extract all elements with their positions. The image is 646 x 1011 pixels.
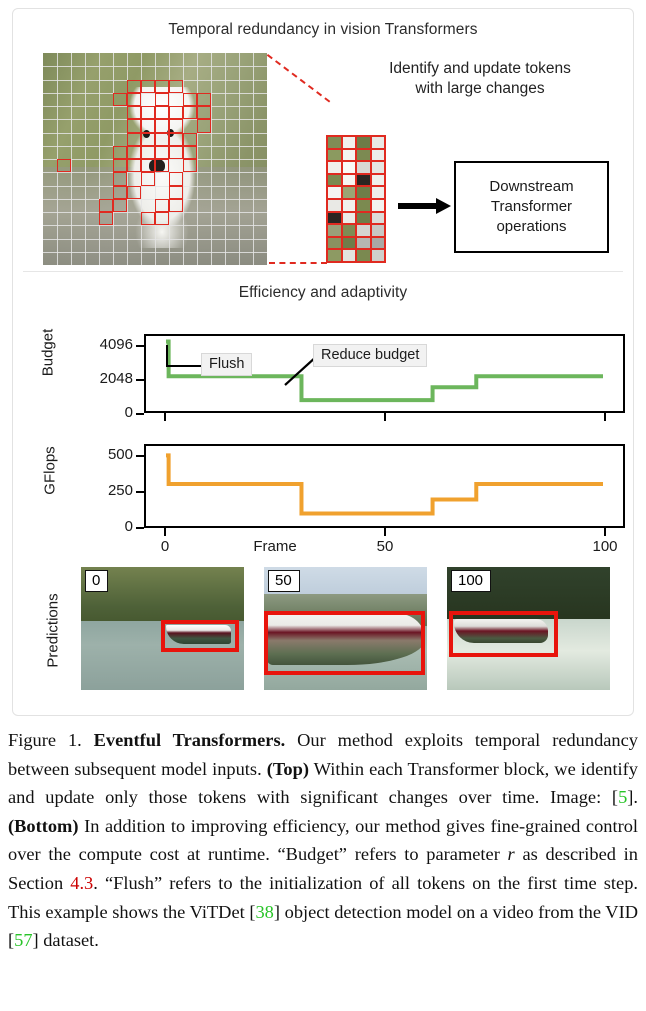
- flush-leader-horizontal: [166, 365, 206, 367]
- caption-segment-16: ] dataset.: [33, 930, 99, 950]
- xtick-label-50: 50: [365, 538, 405, 555]
- gflops-ytick-250: 250: [71, 482, 133, 499]
- token-patch: [356, 224, 371, 237]
- token-patch: [327, 224, 342, 237]
- token-patch: [342, 186, 357, 199]
- gflops-axes: [144, 444, 625, 528]
- token-patch: [371, 199, 386, 212]
- token-patch: [371, 136, 386, 149]
- predictions-row: Predictions 0 50: [13, 567, 633, 697]
- token-patch: [342, 136, 357, 149]
- token-patch: [327, 161, 342, 174]
- token-patch: [356, 149, 371, 162]
- caption-segment-15: 57: [14, 930, 32, 950]
- token-patch: [327, 136, 342, 149]
- token-patch: [356, 161, 371, 174]
- token-patch: [371, 174, 386, 187]
- annotation-reduce-budget: Reduce budget: [313, 344, 427, 367]
- token-patch: [356, 136, 371, 149]
- token-patch: [356, 249, 371, 262]
- downstream-operations-box: Downstream Transformer operations: [454, 161, 609, 253]
- selected-token-strip: [326, 135, 386, 263]
- connector-line-bottom: [269, 262, 327, 264]
- xtick-label-0: 0: [145, 538, 185, 555]
- gflops-tick-500: [136, 455, 144, 457]
- token-patch: [327, 237, 342, 250]
- token-patch: [371, 212, 386, 225]
- caption-segment-0: Figure 1.: [8, 730, 94, 750]
- xtick-label-100: 100: [582, 538, 628, 555]
- strip-caption: Identify and update tokens with large ch…: [333, 59, 627, 99]
- frame0-number: 0: [85, 570, 108, 592]
- token-patch: [342, 199, 357, 212]
- caption-segment-1: Eventful Transformers.: [94, 730, 286, 750]
- frame0-bounding-box: [161, 620, 239, 652]
- flush-leader-vertical: [166, 345, 168, 367]
- figure-page: Temporal redundancy in vision Transforme…: [0, 0, 646, 1011]
- prediction-frame-0: 0: [81, 567, 244, 690]
- token-patch: [327, 174, 342, 187]
- figure-caption: Figure 1. Eventful Transformers. Our met…: [8, 726, 638, 955]
- flow-arrow-icon: [398, 199, 454, 213]
- token-grid-overlay: [43, 53, 267, 265]
- token-patch: [342, 149, 357, 162]
- gflops-xtick-100: [604, 528, 606, 536]
- top-panel: Temporal redundancy in vision Transforme…: [13, 9, 633, 271]
- token-patch: [356, 212, 371, 225]
- token-patch: [356, 174, 371, 187]
- frame50-number: 50: [268, 570, 300, 592]
- bottom-panel: Efficiency and adaptivity Budget 4096 20…: [13, 272, 633, 717]
- caption-segment-3: (Top): [267, 759, 309, 779]
- prediction-frame-100: 100: [447, 567, 610, 690]
- token-patch: [371, 186, 386, 199]
- token-patch: [356, 199, 371, 212]
- gflops-series-line: [146, 446, 623, 526]
- token-patch: [371, 249, 386, 262]
- gflops-ytick-500: 500: [71, 446, 133, 463]
- caption-segment-11: 4.3: [70, 873, 93, 893]
- gflops-chart: GFlops 500 250 0 0 Frame 50 100: [13, 382, 633, 542]
- token-patch: [327, 149, 342, 162]
- connector-line-top: [267, 54, 330, 103]
- frame100-bounding-box: [449, 611, 558, 657]
- caption-segment-6: ].: [627, 787, 638, 807]
- token-patch: [327, 199, 342, 212]
- frame50-bounding-box: [264, 611, 425, 675]
- prediction-frame-50: 50: [264, 567, 427, 690]
- gflops-xtick-50: [384, 528, 386, 536]
- caption-segment-7: (Bottom): [8, 816, 78, 836]
- token-patch: [342, 174, 357, 187]
- token-patch: [342, 161, 357, 174]
- predictions-label: Predictions: [45, 581, 62, 681]
- token-patch: [342, 249, 357, 262]
- token-patch: [327, 249, 342, 262]
- gflops-y-axis-label: GFlops: [42, 431, 59, 511]
- downstream-line1: Downstream: [489, 177, 573, 197]
- token-patch: [371, 224, 386, 237]
- annotation-flush: Flush: [201, 353, 252, 376]
- strip-caption-line2: with large changes: [333, 79, 627, 99]
- budget-tick-4096: [136, 345, 144, 347]
- gflops-tick-0: [136, 527, 144, 529]
- caption-segment-9: r: [508, 844, 515, 864]
- top-panel-title: Temporal redundancy in vision Transforme…: [13, 21, 633, 39]
- token-patch: [342, 224, 357, 237]
- gflops-tick-250: [136, 491, 144, 493]
- caption-segment-5: 5: [618, 787, 627, 807]
- token-patch: [371, 161, 386, 174]
- token-patch: [327, 212, 342, 225]
- caption-segment-13: 38: [255, 902, 273, 922]
- budget-y-axis-label: Budget: [40, 313, 57, 393]
- token-patch: [356, 237, 371, 250]
- token-patch: [356, 186, 371, 199]
- token-patch: [371, 237, 386, 250]
- x-axis-label: Frame: [235, 538, 315, 555]
- budget-tick-2048: [136, 379, 144, 381]
- figure-frame: Temporal redundancy in vision Transforme…: [12, 8, 634, 716]
- budget-ytick-4096: 4096: [71, 336, 133, 353]
- token-patch: [327, 186, 342, 199]
- token-patch: [371, 149, 386, 162]
- downstream-line2: Transformer: [489, 197, 573, 217]
- token-patch: [342, 212, 357, 225]
- gflops-ytick-0: 0: [71, 518, 133, 535]
- gflops-xtick-0: [164, 528, 166, 536]
- token-patch: [342, 237, 357, 250]
- frame100-number: 100: [451, 570, 491, 592]
- strip-caption-line1: Identify and update tokens: [333, 59, 627, 79]
- downstream-line3: operations: [489, 217, 573, 237]
- source-image-with-token-grid: [43, 53, 267, 265]
